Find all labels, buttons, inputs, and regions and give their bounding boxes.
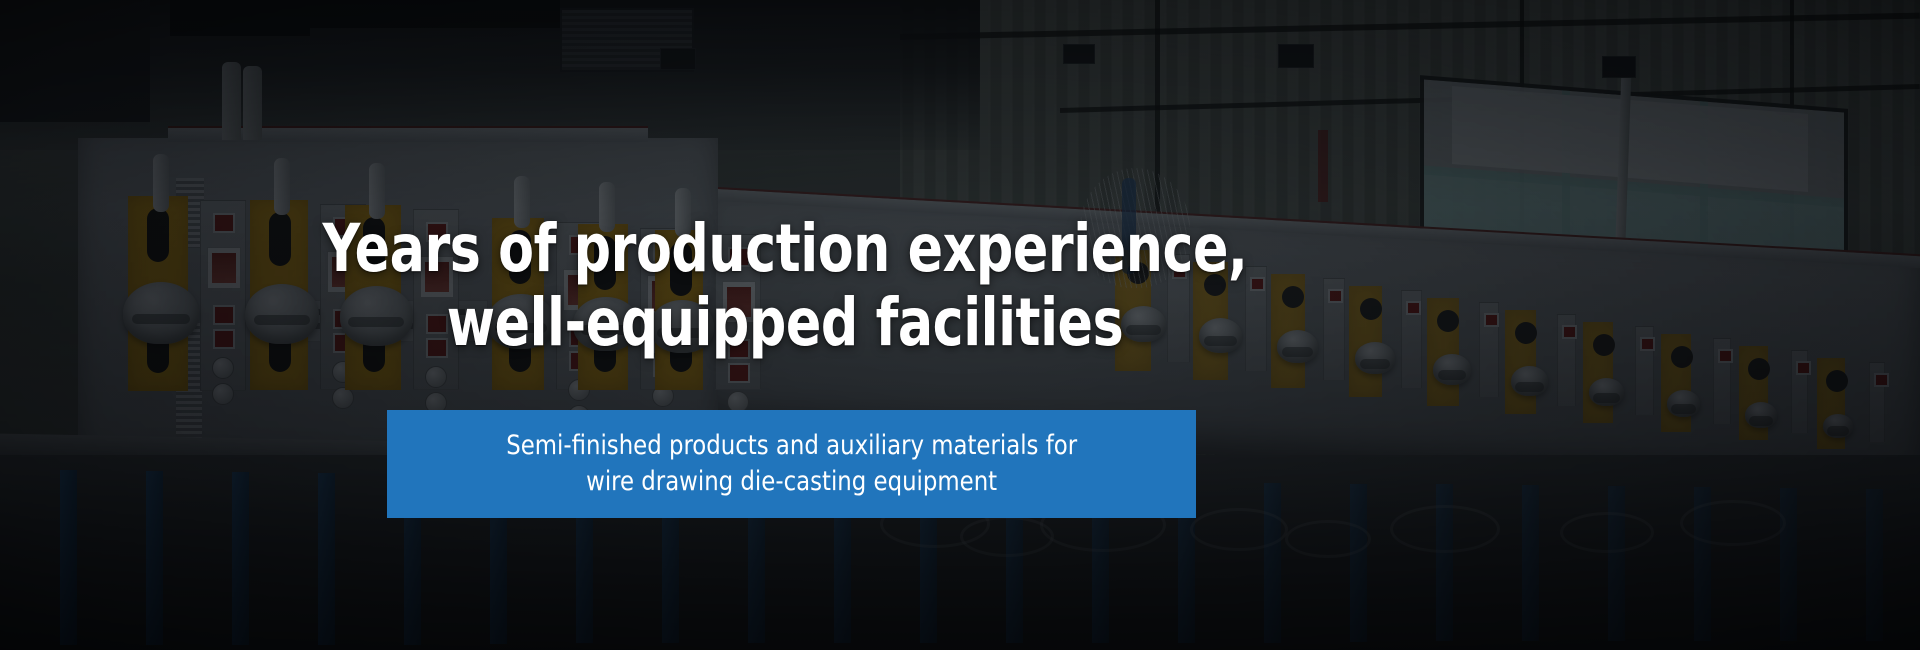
- banner-headline: Years of production experience, well-equ…: [94, 212, 1476, 360]
- hero-banner: Years of production experience, well-equ…: [0, 0, 1920, 650]
- subtitle-line-2: wire drawing die-casting equipment: [506, 464, 1077, 500]
- subtitle-box: Semi-finished products and auxiliary mat…: [387, 410, 1196, 518]
- subtitle-line-1: Semi-finished products and auxiliary mat…: [506, 428, 1077, 464]
- banner-content: Years of production experience, well-equ…: [0, 0, 1920, 650]
- headline-line-1: Years of production experience,: [94, 212, 1476, 286]
- headline-line-2: well-equipped facilities: [94, 286, 1476, 360]
- subtitle-text: Semi-finished products and auxiliary mat…: [506, 428, 1077, 500]
